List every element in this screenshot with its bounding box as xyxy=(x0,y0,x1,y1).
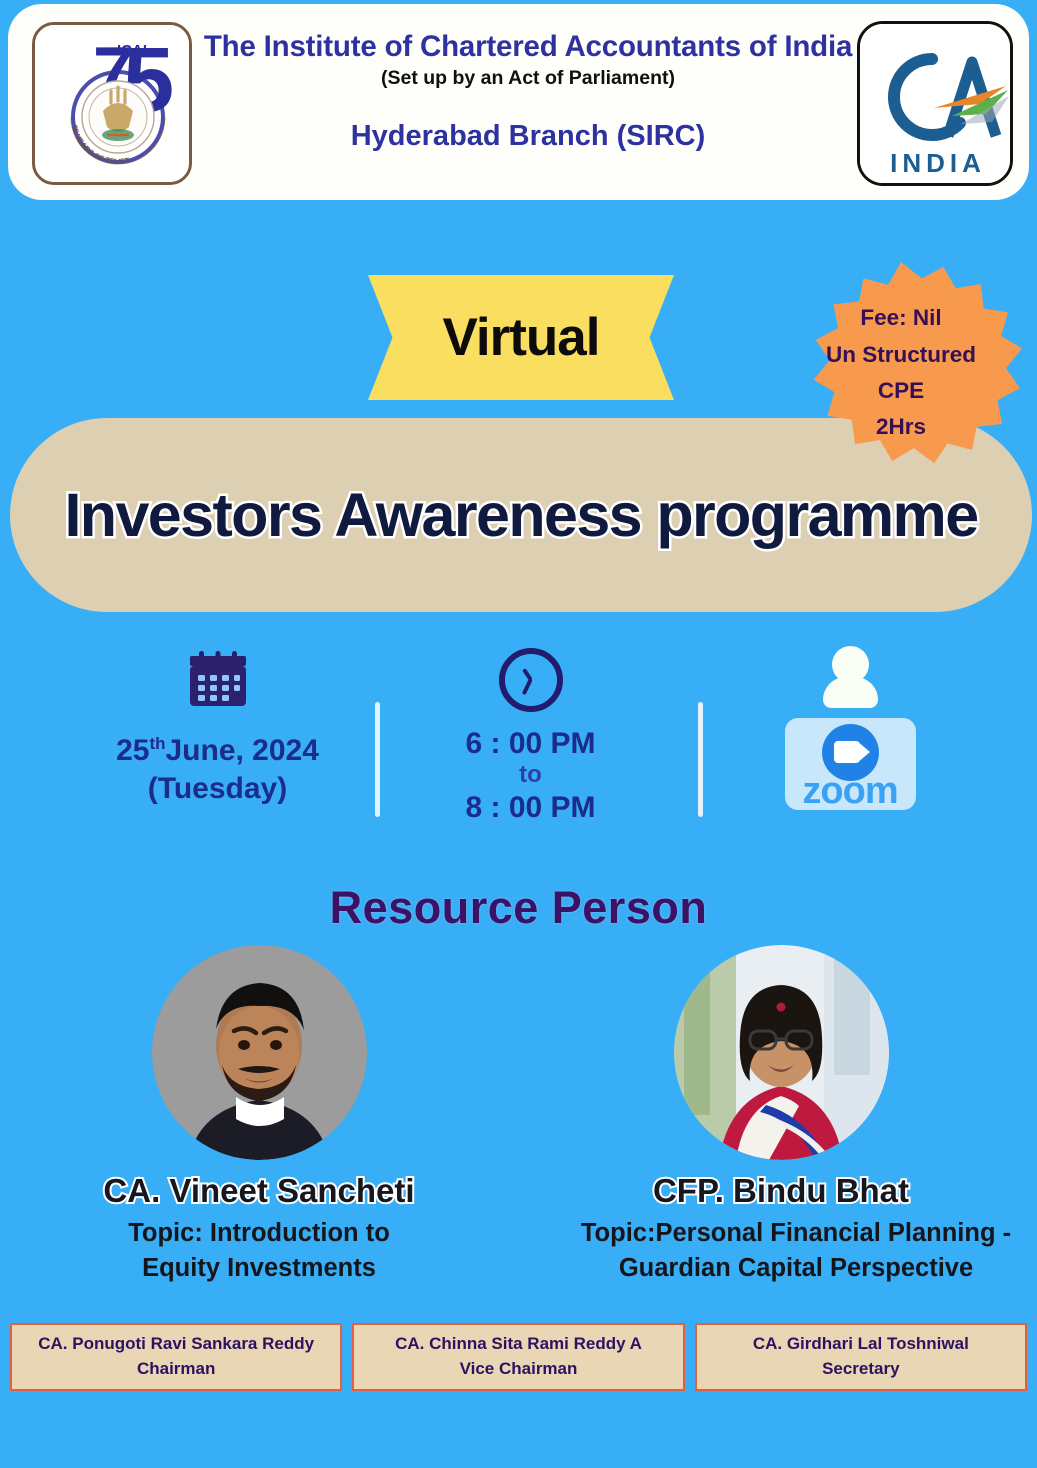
clock-icon xyxy=(499,648,563,712)
speaker-topic-line-1: Topic:Personal Financial Planning - xyxy=(570,1216,1022,1251)
icai-75-years-logo: ICAI 7 5 75 YEARS OF TRUST xyxy=(32,22,192,185)
ca-india-logo: INDIA xyxy=(857,21,1013,186)
speaker-topic-line-1: Topic: Introduction to xyxy=(18,1216,500,1251)
speaker-topic-line-2: Equity Investments xyxy=(18,1251,500,1286)
event-date: 25thJune, 2024 (Tuesday) xyxy=(60,732,375,809)
branch-name: Hyderabad Branch (SIRC) xyxy=(198,120,858,153)
speaker-card-1: CA. Vineet Sancheti Topic: Introduction … xyxy=(18,945,500,1286)
official-name: CA. Girdhari Lal Toshniwal xyxy=(753,1332,969,1357)
event-time: 6 : 00 PM to 8 : 00 PM xyxy=(378,726,683,825)
official-role: Chairman xyxy=(137,1357,215,1382)
event-day: 25 xyxy=(116,734,149,767)
event-date-line: 25thJune, 2024 xyxy=(60,732,375,770)
speaker-card-2: CFP. Bindu Bhat Topic:Personal Financial… xyxy=(540,945,1022,1286)
speaker-photo-bindu-bhat xyxy=(674,945,889,1160)
speaker-topic: Topic:Personal Financial Planning - Guar… xyxy=(570,1216,1022,1286)
svg-text:INDIA: INDIA xyxy=(890,148,986,178)
calendar-icon xyxy=(187,650,249,712)
official-role: Vice Chairman xyxy=(460,1357,578,1382)
event-time-start: 6 : 00 PM xyxy=(378,726,683,761)
event-day-ordinal: th xyxy=(149,734,165,753)
footer-official-vice-chairman: CA. Chinna Sita Rami Reddy A Vice Chairm… xyxy=(352,1323,684,1391)
fee-line-1: Fee: Nil xyxy=(860,300,941,336)
zoom-camera-lens xyxy=(857,741,870,763)
fee-line-3: CPE xyxy=(878,373,924,409)
person-icon xyxy=(823,646,877,708)
speaker-topic-line-2: Guardian Capital Perspective xyxy=(570,1251,1022,1286)
organisation-subtitle: (Set up by an Act of Parliament) xyxy=(198,67,858,90)
speaker-topic: Topic: Introduction to Equity Investment… xyxy=(18,1216,500,1286)
event-time-end: 8 : 00 PM xyxy=(378,790,683,825)
icai-logo-graphic: ICAI 7 5 75 YEARS OF TRUST xyxy=(35,25,192,185)
speaker-photo-vineet-sancheti xyxy=(152,945,367,1160)
resource-person-heading: Resource Person xyxy=(0,882,1037,934)
footer-official-secretary: CA. Girdhari Lal Toshniwal Secretary xyxy=(695,1323,1027,1391)
event-month-year: June, 2024 xyxy=(165,734,318,767)
time-column: 6 : 00 PM to 8 : 00 PM xyxy=(378,640,683,840)
official-name: CA. Chinna Sita Rami Reddy A xyxy=(395,1332,642,1357)
fee-line-2: Un Structured xyxy=(826,337,976,373)
ca-india-logo-graphic: INDIA xyxy=(860,24,1013,186)
footer-official-chairman: CA. Ponugoti Ravi Sankara Reddy Chairman xyxy=(10,1323,342,1391)
person-body xyxy=(823,677,878,708)
event-info-row: 25thJune, 2024 (Tuesday) 6 : 00 PM to 8 … xyxy=(0,640,1037,840)
zoom-logo: zoom xyxy=(785,718,916,810)
header-card: ICAI 7 5 75 YEARS OF TRUST The Institute… xyxy=(8,4,1029,200)
virtual-ribbon: Virtual xyxy=(368,275,674,400)
footer-officials-row: CA. Ponugoti Ravi Sankara Reddy Chairman… xyxy=(0,1323,1037,1391)
event-weekday: (Tuesday) xyxy=(60,770,375,808)
speaker-name: CFP. Bindu Bhat xyxy=(540,1172,1022,1210)
zoom-wordmark: zoom xyxy=(785,770,916,810)
header-title-block: The Institute of Chartered Accountants o… xyxy=(198,30,858,153)
date-column: 25thJune, 2024 (Tuesday) xyxy=(60,640,375,840)
official-name: CA. Ponugoti Ravi Sankara Reddy xyxy=(38,1332,314,1357)
organisation-name: The Institute of Chartered Accountants o… xyxy=(198,30,858,64)
fee-line-4: 2Hrs xyxy=(876,409,926,445)
speaker-name: CA. Vineet Sancheti xyxy=(18,1172,500,1210)
official-role: Secretary xyxy=(822,1357,900,1382)
virtual-label: Virtual xyxy=(443,311,600,364)
fee-badge-text: Fee: Nil Un Structured CPE 2Hrs xyxy=(780,262,1022,492)
event-time-separator: to xyxy=(378,761,683,789)
platform-column: zoom xyxy=(700,640,1000,840)
